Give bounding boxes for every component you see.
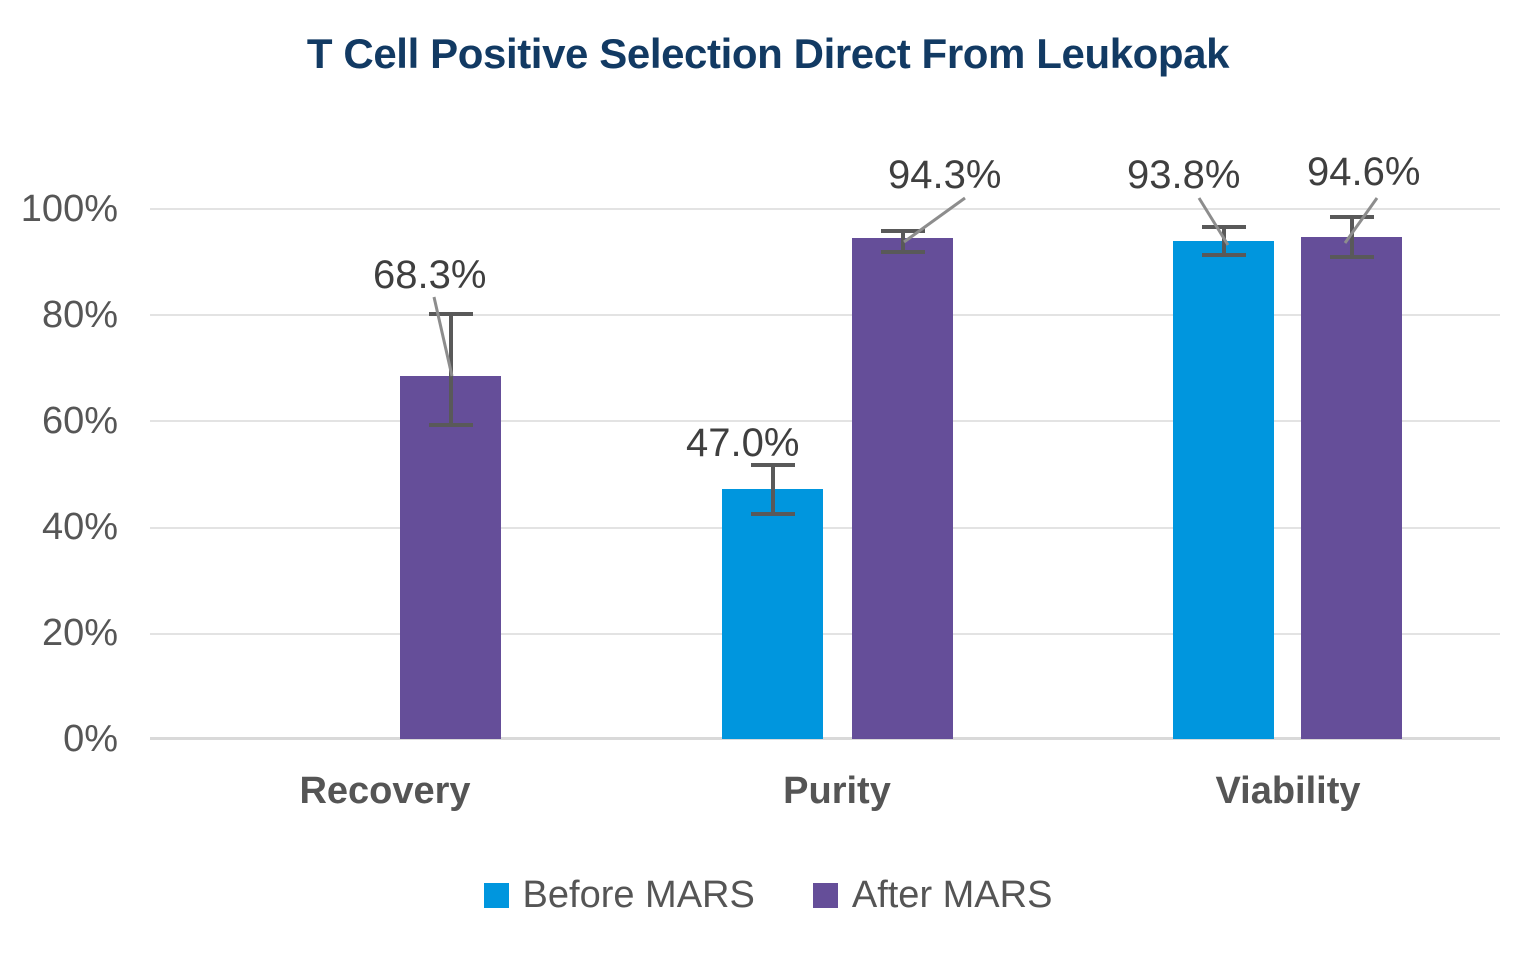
leader-line-recovery [434, 297, 452, 376]
chart-legend: Before MARS After MARS [0, 876, 1536, 914]
leader-line-viability-before [1199, 198, 1228, 245]
legend-swatch-icon-after-mars [813, 883, 838, 908]
leader-line-viability-after [1345, 198, 1377, 243]
data-label-purity-after-mars: 94.3% [888, 155, 1001, 195]
data-label-purity-before-mars: 47.0% [686, 423, 799, 463]
legend-item-after-mars[interactable]: After MARS [813, 876, 1053, 914]
data-label-recovery-after-mars: 68.3% [373, 255, 486, 295]
chart-container: T Cell Positive Selection Direct From Le… [0, 0, 1536, 957]
data-label-viability-after-mars: 94.6% [1307, 152, 1420, 192]
leader-line-purity-after [904, 198, 965, 242]
legend-item-before-mars[interactable]: Before MARS [484, 876, 755, 914]
legend-swatch-icon-before-mars [484, 883, 509, 908]
category-label-recovery: Recovery [250, 772, 520, 810]
legend-label-before-mars: Before MARS [523, 876, 755, 914]
category-label-purity: Purity [702, 772, 972, 810]
data-label-leader-lines [0, 0, 1536, 957]
category-label-viability: Viability [1153, 772, 1423, 810]
data-label-viability-before-mars: 93.8% [1127, 155, 1240, 195]
legend-label-after-mars: After MARS [852, 876, 1053, 914]
